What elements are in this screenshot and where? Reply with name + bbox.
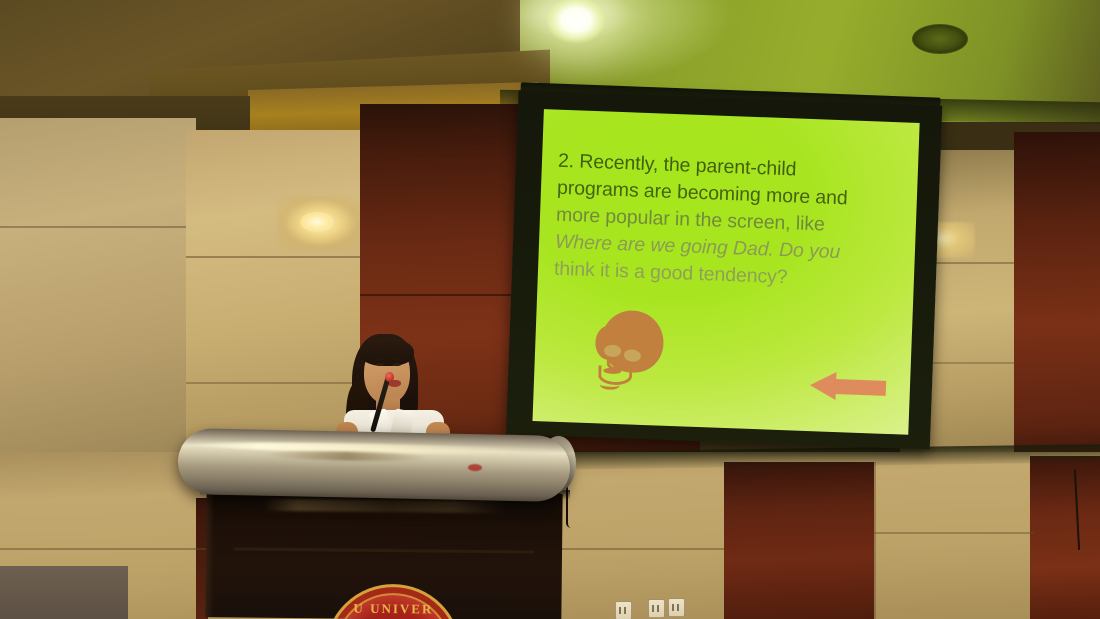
- projection-screen: 2. Recently, the parent-child programs a…: [506, 90, 949, 458]
- presenter-brow-left: [375, 358, 385, 360]
- cartoon-face-icon: [594, 309, 669, 396]
- lower-wood-panel-center: [724, 462, 874, 619]
- screen-frame: 2. Recently, the parent-child programs a…: [506, 90, 942, 449]
- wall-sconce-left-icon: [300, 212, 334, 232]
- podium-engraved-text: [263, 498, 505, 513]
- podium-body-edge: [205, 490, 214, 617]
- back-arrow-icon[interactable]: [809, 371, 886, 402]
- podium-red-mark: [468, 464, 482, 471]
- panel-seam: [360, 294, 535, 296]
- microphone-tip: [385, 372, 394, 382]
- slide-text-block: 2. Recently, the parent-child programs a…: [554, 148, 909, 296]
- lower-left-grey-block: [0, 566, 128, 619]
- wood-panel-right: [1014, 132, 1100, 462]
- university-seal: U UNIVER: [324, 583, 461, 619]
- panel-seam: [874, 532, 1034, 534]
- panel-seam: [186, 256, 366, 258]
- lecture-hall-photo: 2. Recently, the parent-child programs a…: [0, 0, 1100, 619]
- wall-outlet-3[interactable]: [668, 598, 685, 617]
- arrow-head: [809, 371, 836, 400]
- podium-ridge: [235, 548, 534, 554]
- presenter-brow-right: [392, 358, 402, 360]
- presenter-eye-right: [393, 363, 401, 366]
- presenter-hair-front: [360, 338, 414, 366]
- panel-seam: [874, 462, 876, 619]
- beige-panel-far-left: [0, 118, 196, 458]
- podium-body: U UNIVER: [205, 490, 562, 619]
- university-seal-text: U UNIVER: [328, 600, 458, 617]
- cartoon-chin: [600, 379, 620, 390]
- presentation-slide: 2. Recently, the parent-child programs a…: [532, 109, 919, 435]
- lower-wood-panel-right: [1030, 456, 1100, 619]
- arrow-shaft: [834, 379, 887, 396]
- wall-outlet-2[interactable]: [648, 599, 665, 618]
- presenter-eye-left: [376, 363, 384, 366]
- podium-top-rail: [177, 428, 570, 502]
- wall-outlet-1[interactable]: [615, 601, 632, 619]
